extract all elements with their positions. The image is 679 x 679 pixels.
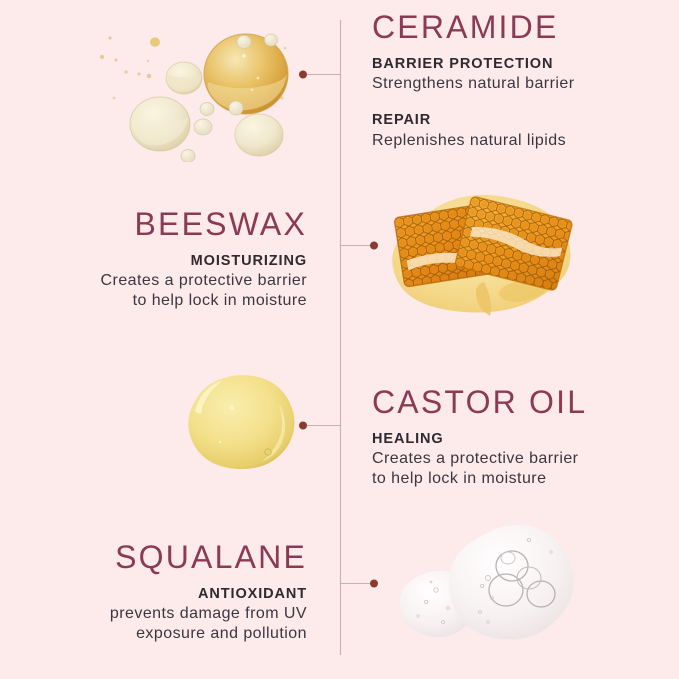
benefit-desc-squalane-0: prevents damage from UV exposure and pol… (7, 604, 307, 645)
benefit-castor-oil-0: HEALING Creates a protective barrier to … (372, 430, 672, 490)
ingredient-title-squalane: SQUALANE (7, 540, 307, 576)
benefit-label-ceramide-0: BARRIER PROTECTION (372, 55, 672, 73)
ingredient-block-squalane: SQUALANE ANTIOXIDANT prevents damage fro… (7, 540, 307, 645)
benefit-label-squalane-0: ANTIOXIDANT (7, 585, 307, 603)
ingredient-infographic: CERAMIDE BARRIER PROTECTION Strengthens … (0, 0, 679, 679)
benefit-label-beeswax-0: MOISTURIZING (7, 252, 307, 270)
connector-dot-squalane (370, 580, 378, 588)
connector-dot-beeswax (370, 242, 378, 250)
ingredient-title-beeswax: BEESWAX (7, 207, 307, 243)
ingredient-title-castor-oil: CASTOR OIL (372, 385, 672, 421)
honeycomb-image (388, 178, 584, 324)
benefit-label-ceramide-1: REPAIR (372, 111, 672, 129)
gel-blobs-image (388, 518, 584, 654)
oil-drop-image (185, 372, 297, 472)
benefit-desc-castor-oil-0: Creates a protective barrier to help loc… (372, 449, 672, 490)
ingredient-block-ceramide: CERAMIDE BARRIER PROTECTION Strengthens … (372, 10, 672, 151)
ingredient-title-ceramide: CERAMIDE (372, 10, 672, 46)
benefit-desc-beeswax-0: Creates a protective barrier to help loc… (7, 271, 307, 312)
benefit-desc-ceramide-0: Strengthens natural barrier (372, 74, 672, 94)
benefit-ceramide-1: REPAIR Replenishes natural lipids (372, 111, 672, 151)
connector-dot-ceramide (299, 71, 307, 79)
ingredient-block-castor-oil: CASTOR OIL HEALING Creates a protective … (372, 385, 672, 490)
connector-dot-castor-oil (299, 422, 307, 430)
benefit-ceramide-0: BARRIER PROTECTION Strengthens natural b… (372, 55, 672, 95)
ingredient-block-beeswax: BEESWAX MOISTURIZING Creates a protectiv… (7, 207, 307, 312)
oil-droplets-image (86, 16, 302, 162)
benefit-beeswax-0: MOISTURIZING Creates a protective barrie… (7, 252, 307, 312)
benefit-desc-ceramide-1: Replenishes natural lipids (372, 131, 672, 151)
benefit-squalane-0: ANTIOXIDANT prevents damage from UV expo… (7, 585, 307, 645)
benefit-label-castor-oil-0: HEALING (372, 430, 672, 448)
